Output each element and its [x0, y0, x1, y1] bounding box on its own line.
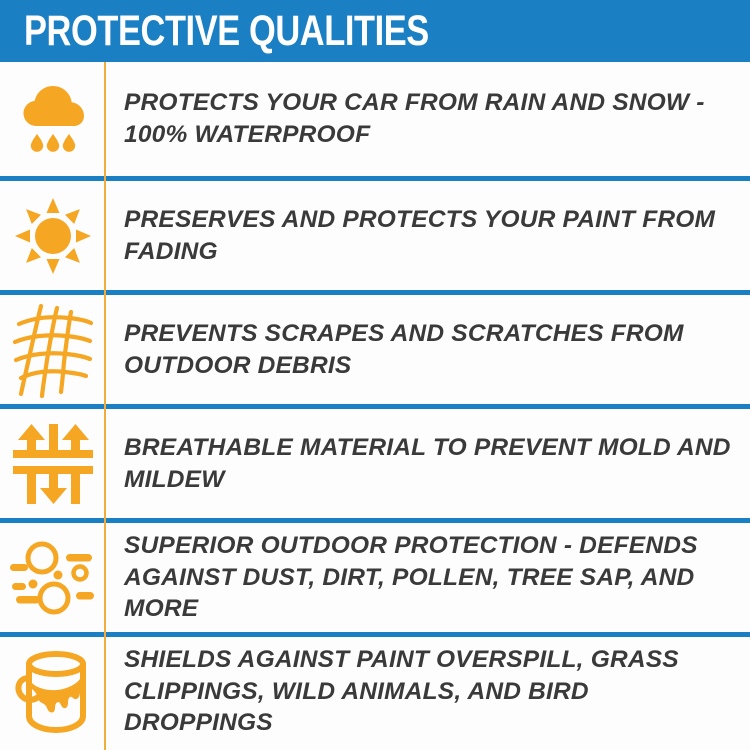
feature-text: SUPERIOR OUTDOOR PROTECTION - DEFENDS AG… — [124, 530, 736, 626]
text-cell: PRESERVES AND PROTECTS YOUR PAINT FROM F… — [106, 204, 750, 268]
list-item: PREVENTS SCRAPES AND SCRATCHES FROM OUTD… — [0, 290, 750, 404]
sun-icon — [13, 196, 93, 276]
feature-text: PROTECTS YOUR CAR FROM RAIN AND SNOW - 1… — [124, 87, 736, 151]
text-cell: PREVENTS SCRAPES AND SCRATCHES FROM OUTD… — [106, 318, 750, 382]
text-cell: PROTECTS YOUR CAR FROM RAIN AND SNOW - 1… — [106, 87, 750, 151]
protective-qualities-infographic: PROTECTIVE QUALITIES PROTEC — [0, 0, 750, 750]
feature-list: PROTECTS YOUR CAR FROM RAIN AND SNOW - 1… — [0, 62, 750, 746]
header-banner: PROTECTIVE QUALITIES — [0, 0, 750, 62]
icon-cell — [0, 295, 106, 404]
icon-cell — [0, 637, 106, 746]
icon-cell — [0, 523, 106, 632]
feature-text: PRESERVES AND PROTECTS YOUR PAINT FROM F… — [124, 204, 736, 268]
text-cell: SHIELDS AGAINST PAINT OVERSPILL, GRASS C… — [106, 644, 750, 740]
icon-cell — [0, 181, 106, 290]
feature-text: BREATHABLE MATERIAL TO PREVENT MOLD AND … — [124, 432, 736, 496]
list-item: BREATHABLE MATERIAL TO PREVENT MOLD AND … — [0, 404, 750, 518]
feature-text: PREVENTS SCRAPES AND SCRATCHES FROM OUTD… — [124, 318, 736, 382]
rain-cloud-icon — [16, 80, 90, 158]
page-title: PROTECTIVE QUALITIES — [24, 10, 429, 53]
mesh-net-icon — [11, 302, 95, 398]
text-cell: BREATHABLE MATERIAL TO PREVENT MOLD AND … — [106, 432, 750, 496]
feature-text: SHIELDS AGAINST PAINT OVERSPILL, GRASS C… — [124, 644, 736, 740]
paint-can-icon — [11, 648, 95, 736]
list-item: PRESERVES AND PROTECTS YOUR PAINT FROM F… — [0, 176, 750, 290]
icon-cell — [0, 62, 106, 176]
list-item: SHIELDS AGAINST PAINT OVERSPILL, GRASS C… — [0, 632, 750, 746]
list-item: SUPERIOR OUTDOOR PROTECTION - DEFENDS AG… — [0, 518, 750, 632]
airflow-arrows-icon — [13, 422, 93, 506]
dust-particles-icon — [10, 538, 96, 618]
list-item: PROTECTS YOUR CAR FROM RAIN AND SNOW - 1… — [0, 62, 750, 176]
text-cell: SUPERIOR OUTDOOR PROTECTION - DEFENDS AG… — [106, 530, 750, 626]
icon-cell — [0, 409, 106, 518]
